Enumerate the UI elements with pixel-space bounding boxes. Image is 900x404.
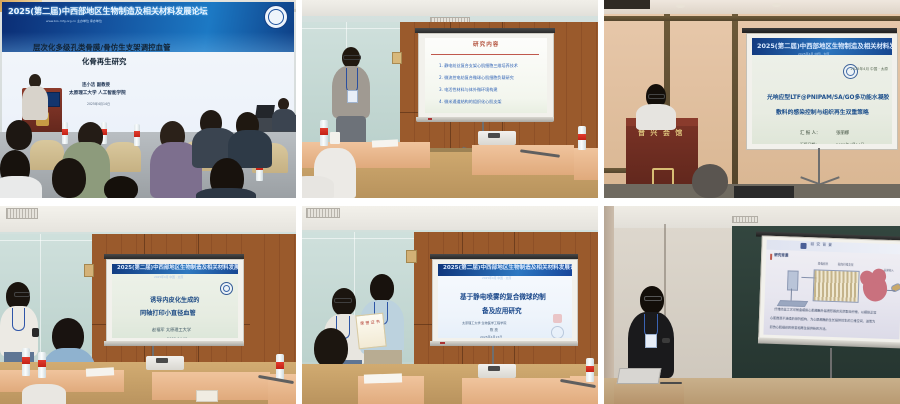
slide-banner-sub: 2025年4月 中国 · 太原 xyxy=(798,53,829,56)
panel-3-podium-speaker: 2025(第二届)中西部地区生物制造及相关材料发展论坛 2025年4月 中国 ·… xyxy=(604,0,900,198)
slide-banner-title: 2025(第二届)中西部地区生物制造及相关材料发展论坛 xyxy=(757,43,892,49)
slide-speaker: 赵福军 太原理工大学 xyxy=(152,328,191,332)
projection-screen: 研究内容 1. 静电纺丝复合支架心肌细胞三维培养技术 2. 微流控电纺复合微球心… xyxy=(418,33,554,119)
heart-illustration xyxy=(861,274,889,304)
slide-body-line1: 纤维纺丝工艺可制备模拟心肌细胞外基质形貌的天然取向纤维，以模拟正常 xyxy=(774,308,876,315)
slide-title: 研究内容 xyxy=(473,43,499,49)
screen-bottom-bar xyxy=(104,341,244,346)
slide-banner-title: 2025(第二届)中西部地区生物制造及相关材料发展论坛 xyxy=(443,266,572,272)
slide-banner-sub: 2025年4月 中国 · 太原 xyxy=(154,276,183,279)
screen-red-dot xyxy=(428,118,432,120)
speaker-glasses-icon xyxy=(14,292,30,297)
table xyxy=(574,148,598,180)
badge xyxy=(645,334,657,348)
slide-date-label: 汇报日期： xyxy=(800,143,819,144)
slide-bullet: 4. 微米通道结构的组织化心肌支架 xyxy=(439,100,502,104)
speaker-body xyxy=(636,104,676,130)
projection-screen: 2025(第二届)中西部地区生物制造及相关材料发展论坛 2025年4月 中国 ·… xyxy=(106,259,244,343)
slide-content: 2025(第二届)中西部地区生物制造及相关材料发展论坛 2025年4月 中国 ·… xyxy=(438,264,572,338)
panel-4-speaker-audience: 2025(第二届)中西部地区生物制造及相关材料发展论坛 2025年4月 中国 ·… xyxy=(0,206,296,404)
slide-banner-sub: www.bio-mfg.org.cn 主办单位 承办单位 xyxy=(46,20,102,23)
clicker[interactable] xyxy=(32,328,39,337)
speaker-body xyxy=(22,86,48,120)
speaker-glasses-icon xyxy=(343,55,361,60)
ceiling-light-icon xyxy=(676,4,685,8)
slide-content: 2025(第二届)中西部地区生物制造及相关材料发展论坛 2025年4月 中国 ·… xyxy=(112,264,238,338)
slide-content: 研 究 背 景 研究背景 静电纺丝 取向纤维支架 支架植入 纤维纺丝工艺可制备模… xyxy=(763,240,900,340)
slide-body-line2: 心肌微观不连续的排列结构，为心肌细胞的生长提供仿生的三维空间，进而为 xyxy=(770,317,875,324)
chair xyxy=(302,176,334,198)
slide-decoration-icon xyxy=(553,314,562,323)
slide-content: 2025(第二届)中西部地区生物制造及相关材料发展论坛 2025年4月 中国 ·… xyxy=(752,38,892,144)
chair xyxy=(22,384,66,404)
audience-head xyxy=(52,158,86,198)
slide-speaker: 张丽娜 xyxy=(836,132,849,136)
slide-header-icon xyxy=(800,243,806,249)
screen-red-dot xyxy=(440,342,445,344)
slide-content: 研究内容 1. 静电纺丝复合支架心肌细胞三维培养技术 2. 微流控电纺复合微球心… xyxy=(425,38,547,113)
slide-affiliation: 太原理工大学 生物医学工程学院 xyxy=(462,322,506,325)
wall-switch-plate[interactable] xyxy=(406,250,417,263)
photo-collage: 2025(第二届)中西部地区生物制造及相关材料发展论坛 www.bio-mfg.… xyxy=(0,0,900,404)
slide-org-name: 2025年4月 中国 · 太原 xyxy=(850,68,888,72)
slide-banner-title: 2025(第二届)中西部地区生物制造及相关材料发展论坛 xyxy=(8,7,208,15)
slide-bullet: 1. 静电纺丝复合支架心肌细胞三维培养技术 xyxy=(439,64,518,68)
projection-screen: 2025(第二届)中西部地区生物制造及相关材料发展论坛 2025年4月 中国 ·… xyxy=(432,259,578,343)
slide-bullet: 2. 微流控电纺复合微球心肌细胞负载研究 xyxy=(439,76,514,80)
laptop xyxy=(617,368,662,384)
slide-section-label: 研究背景 xyxy=(774,254,788,258)
slide-title-line1: 诱导内皮化生成的 xyxy=(150,298,200,304)
diagram-collector xyxy=(777,300,808,307)
slide-banner-title: 2025(第二届)中西部地区生物制造及相关材料发展论坛 xyxy=(117,266,238,271)
wall-switch-plate[interactable] xyxy=(392,52,402,64)
badge xyxy=(347,90,358,103)
slide-date: 2025年4月14日 xyxy=(87,103,110,106)
slide-title-line2: 备及应用研究 xyxy=(482,308,522,315)
certificate xyxy=(355,313,386,350)
panel-6-heart-slide: 研 究 背 景 研究背景 静电纺丝 取向纤维支架 支架植入 纤维纺丝工艺可制备模… xyxy=(604,206,900,404)
slide-date: 2025年4月14日 xyxy=(836,143,864,144)
diagram-spinneret xyxy=(787,270,799,290)
slide-affiliation: 太原理工大学 人工智能学院 xyxy=(69,92,126,97)
slide-banner-sub: 2025年4月 中国 · 太原 xyxy=(482,277,511,280)
slide-title-line2: 同轴打印小直径血管 xyxy=(140,311,196,317)
slide-title-line1: 光响应型LTF@PNIPAM/SA/GO多功能水凝胶 xyxy=(767,96,889,102)
panel-1-lecture-hall: 2025(第二届)中西部地区生物制造及相关材料发展论坛 www.bio-mfg.… xyxy=(0,0,296,198)
diagram-implant xyxy=(890,282,900,293)
presenter-head xyxy=(370,274,394,302)
university-emblem-icon xyxy=(220,282,233,295)
recipient-glasses-icon xyxy=(334,298,352,303)
speaker-glasses-icon xyxy=(644,296,662,301)
diagram-label: 取向纤维支架 xyxy=(838,264,854,267)
panel-5-award-ceremony: 2025(第二届)中西部地区生物制造及相关材料发展论坛 2025年4月 中国 ·… xyxy=(302,206,598,404)
clicker[interactable] xyxy=(662,338,670,343)
slide-header-title: 研 究 背 景 xyxy=(810,243,832,247)
slide-title-line2: 敷料的感染控制与组织再生双重策略 xyxy=(776,111,869,117)
diagram-label: 支架植入 xyxy=(884,270,894,273)
audience-head xyxy=(104,176,138,198)
wall-switch-plate[interactable] xyxy=(84,264,94,277)
slide-speaker: 陈 亮 xyxy=(490,329,498,332)
slide-title-line2: 化骨再生研究 xyxy=(82,58,126,65)
slide-speaker-label: 汇 报 人： xyxy=(800,132,820,136)
slide-title-line1: 层次化多级孔类骨膜/骨仿生支架调控血管 xyxy=(33,44,171,51)
audience-head xyxy=(692,164,728,198)
table xyxy=(462,378,572,404)
screen-bottom-bar xyxy=(416,117,554,122)
diagram-fiber-scaffold xyxy=(813,269,860,303)
panelist-body xyxy=(272,109,296,131)
projection-screen: 2025(第二届)中西部地区生物制造及相关材料发展论坛 2025年4月 中国 ·… xyxy=(746,33,898,150)
slide-bullet: 3. 电活性材料与体外微环境构建 xyxy=(439,88,497,92)
slide-body-line3: 损伤心肌组织的修复和再生提供新的方法。 xyxy=(770,326,829,331)
slide-date: 2025年4月15日 xyxy=(480,336,502,338)
audience-head xyxy=(6,120,32,150)
slide-logo-icon xyxy=(551,326,564,338)
slide-speaker: 连小洁 副教授 xyxy=(82,84,110,88)
panel-2-speaker-screen: 研究内容 1. 静电纺丝复合支架心肌细胞三维培养技术 2. 微流控电纺复合微球心… xyxy=(302,0,598,198)
speaker-glasses-icon xyxy=(648,94,665,99)
podium-sign-text: 晋 兴 会 馆 xyxy=(638,130,684,137)
screen-bottom-bar xyxy=(430,341,578,346)
diagram-label: 静电纺丝 xyxy=(818,263,828,266)
university-emblem-icon xyxy=(264,5,288,29)
slide-title-line1: 基于静电喷雾的复合微球的制 xyxy=(460,294,546,301)
ceiling-light-icon xyxy=(772,3,781,7)
lanyard xyxy=(12,308,25,331)
projection-screen: 研 究 背 景 研究背景 静电纺丝 取向纤维支架 支架植入 纤维纺丝工艺可制备模… xyxy=(758,235,900,344)
audience-head xyxy=(314,328,348,368)
